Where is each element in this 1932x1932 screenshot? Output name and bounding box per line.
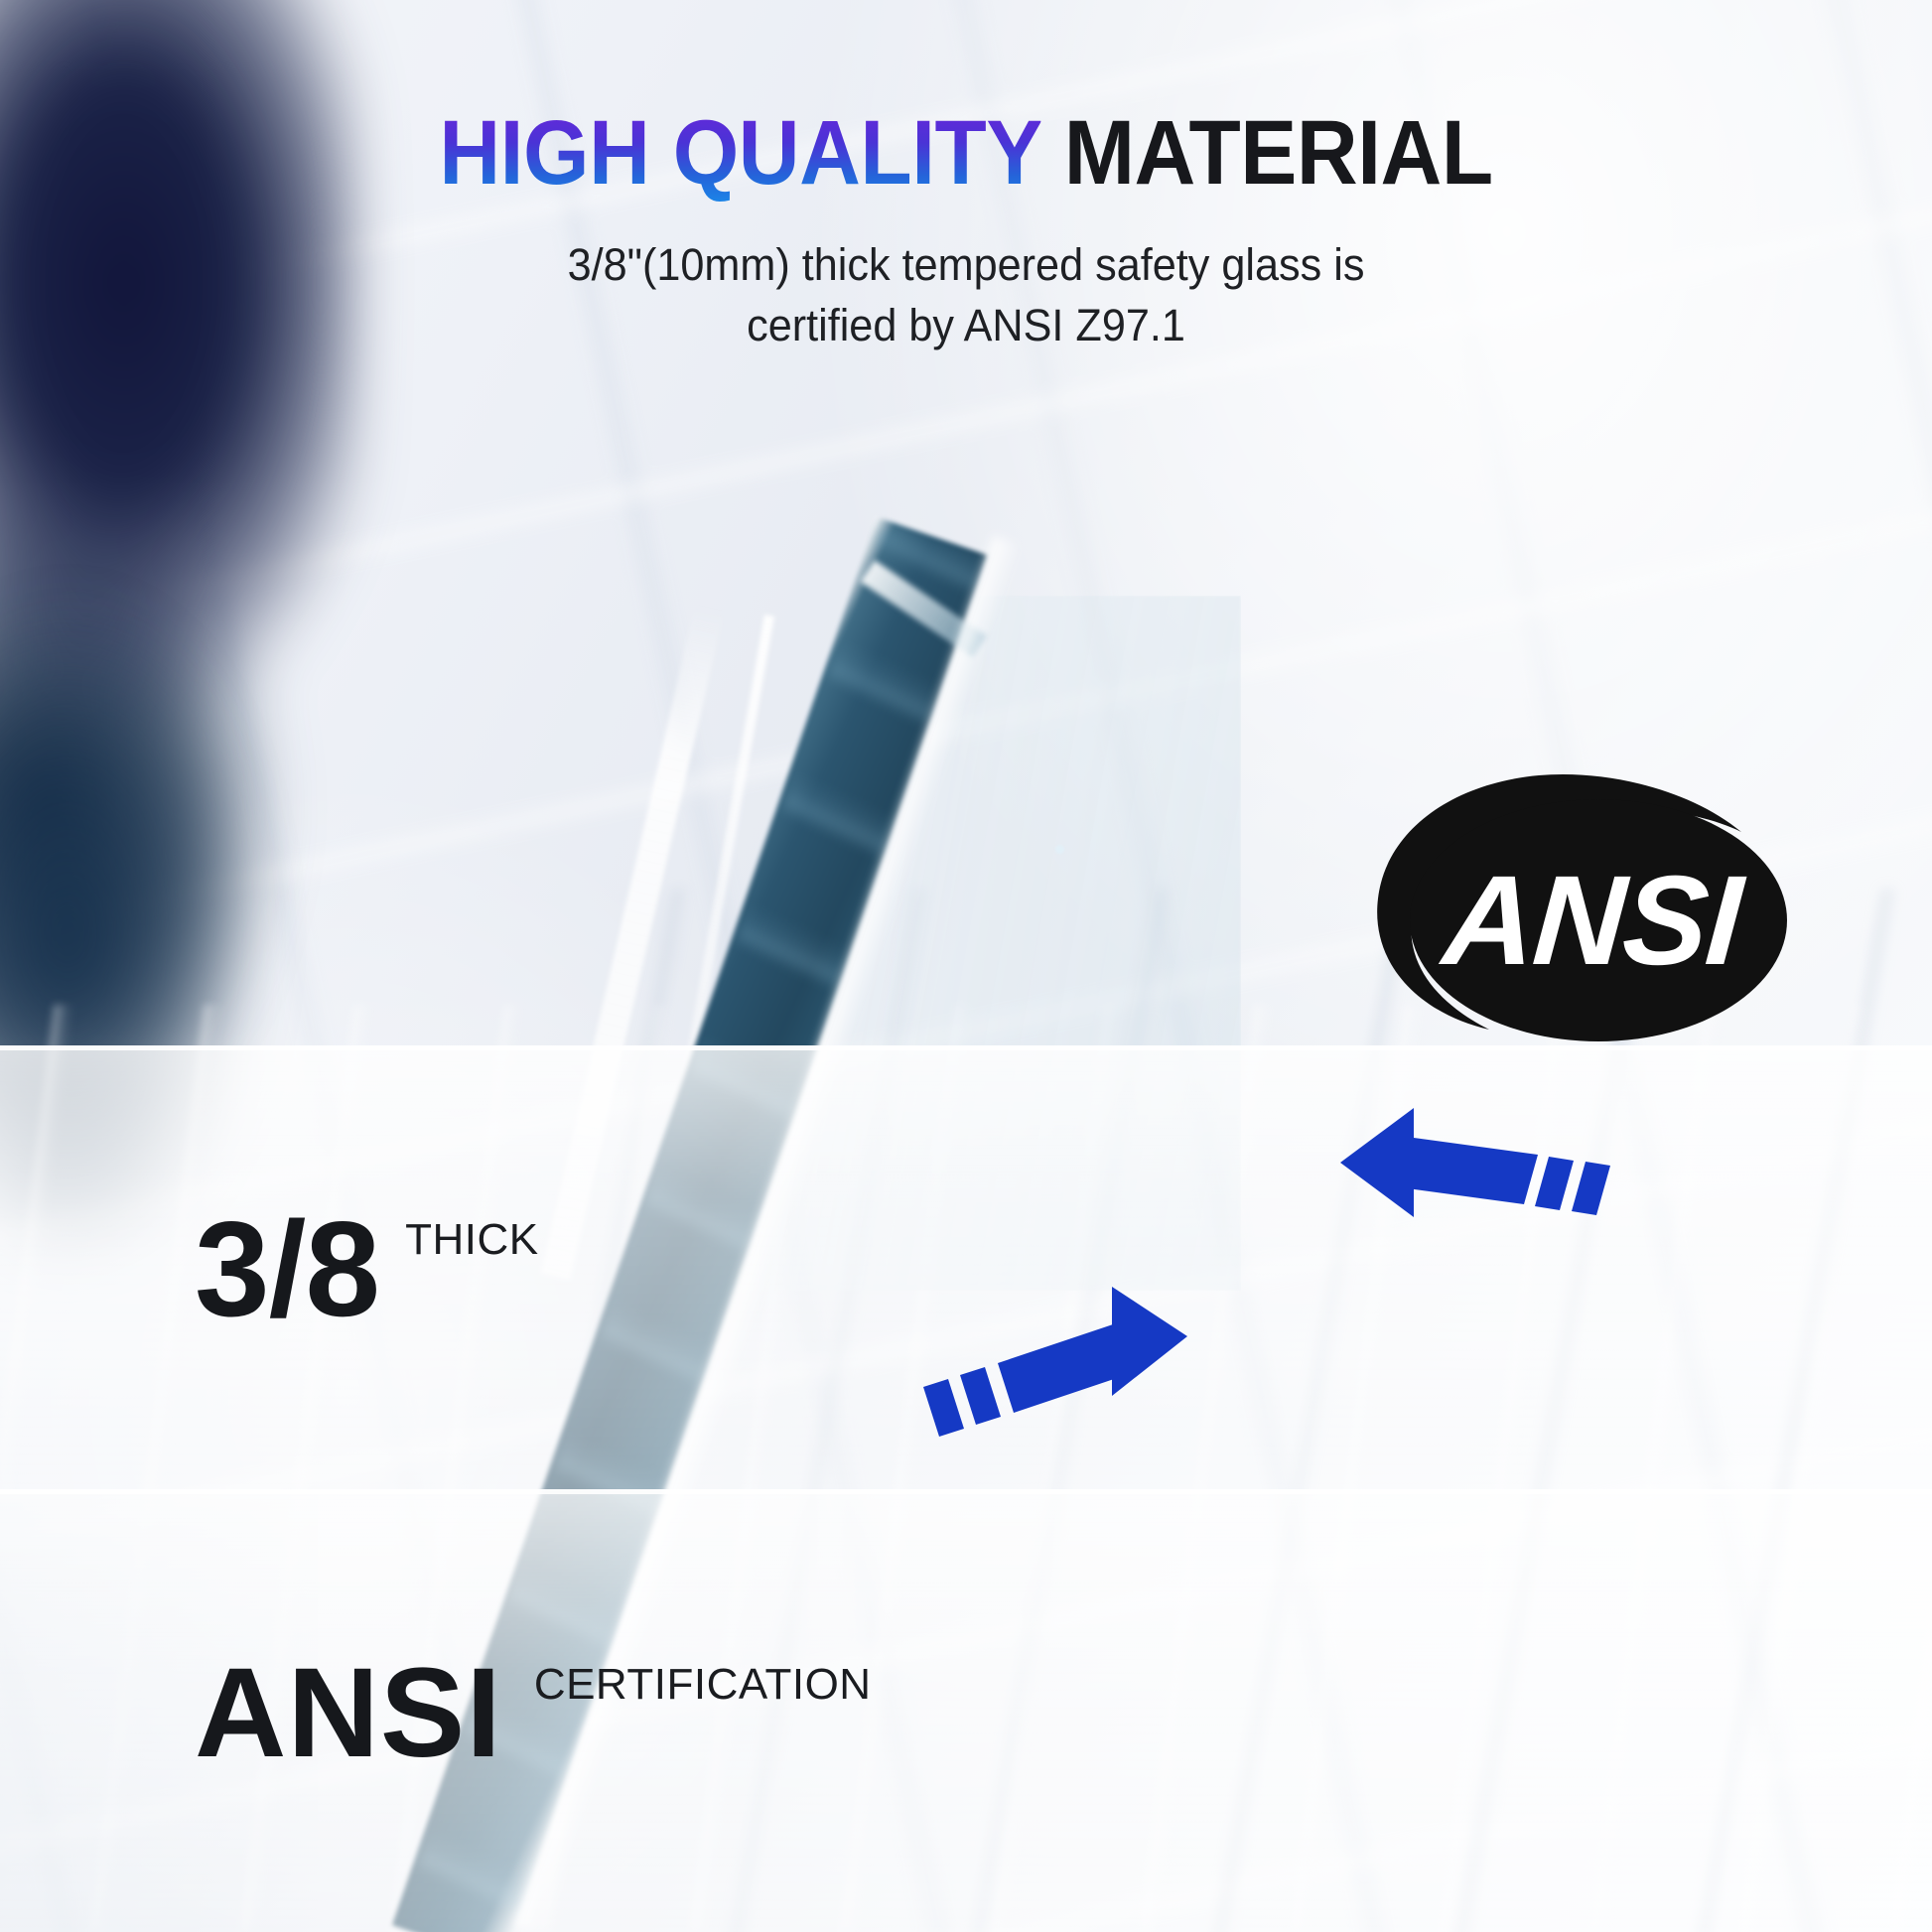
product-feature-poster: HIGH QUALITY MATERIAL 3/8"(10mm) thick t…	[0, 0, 1932, 1932]
ansi-logo-text: ANSI	[1436, 850, 1748, 992]
arrow-pointing-left-down	[1340, 1108, 1610, 1217]
ansi-logo: ANSI	[1372, 769, 1797, 1057]
arrow-pointing-right-up	[923, 1287, 1187, 1437]
